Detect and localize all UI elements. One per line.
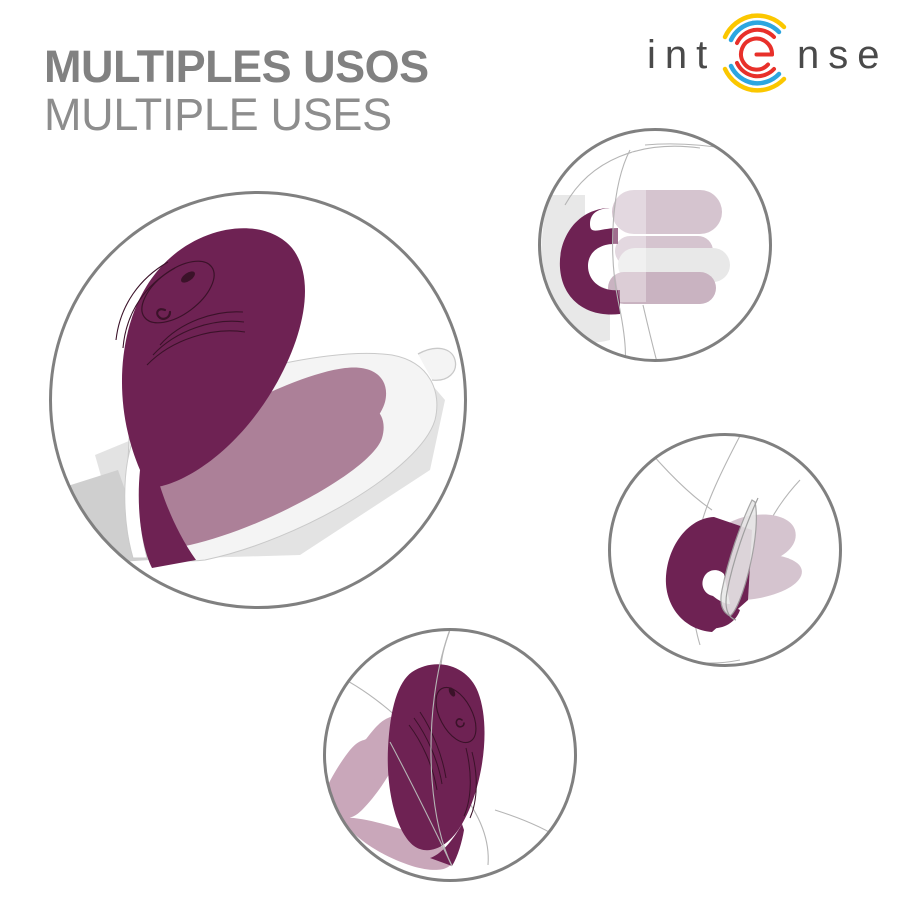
product-infographic-page: MULTIPLES USOS MULTIPLE USES int (0, 0, 900, 900)
usage-scene-couple (610, 432, 841, 666)
hand-outline-3 (645, 144, 760, 156)
body-line-1 (640, 440, 712, 510)
usage-scene-condom (51, 193, 466, 608)
hand-outline-4 (643, 305, 662, 380)
solo-line-4 (495, 810, 562, 840)
illustration-group (0, 0, 900, 900)
thumb-overlay (613, 152, 646, 302)
usage-scene-solo (316, 624, 576, 881)
device-purple-bot (388, 664, 485, 850)
usage-scene-hand (540, 130, 771, 393)
body-line-2 (700, 432, 742, 530)
